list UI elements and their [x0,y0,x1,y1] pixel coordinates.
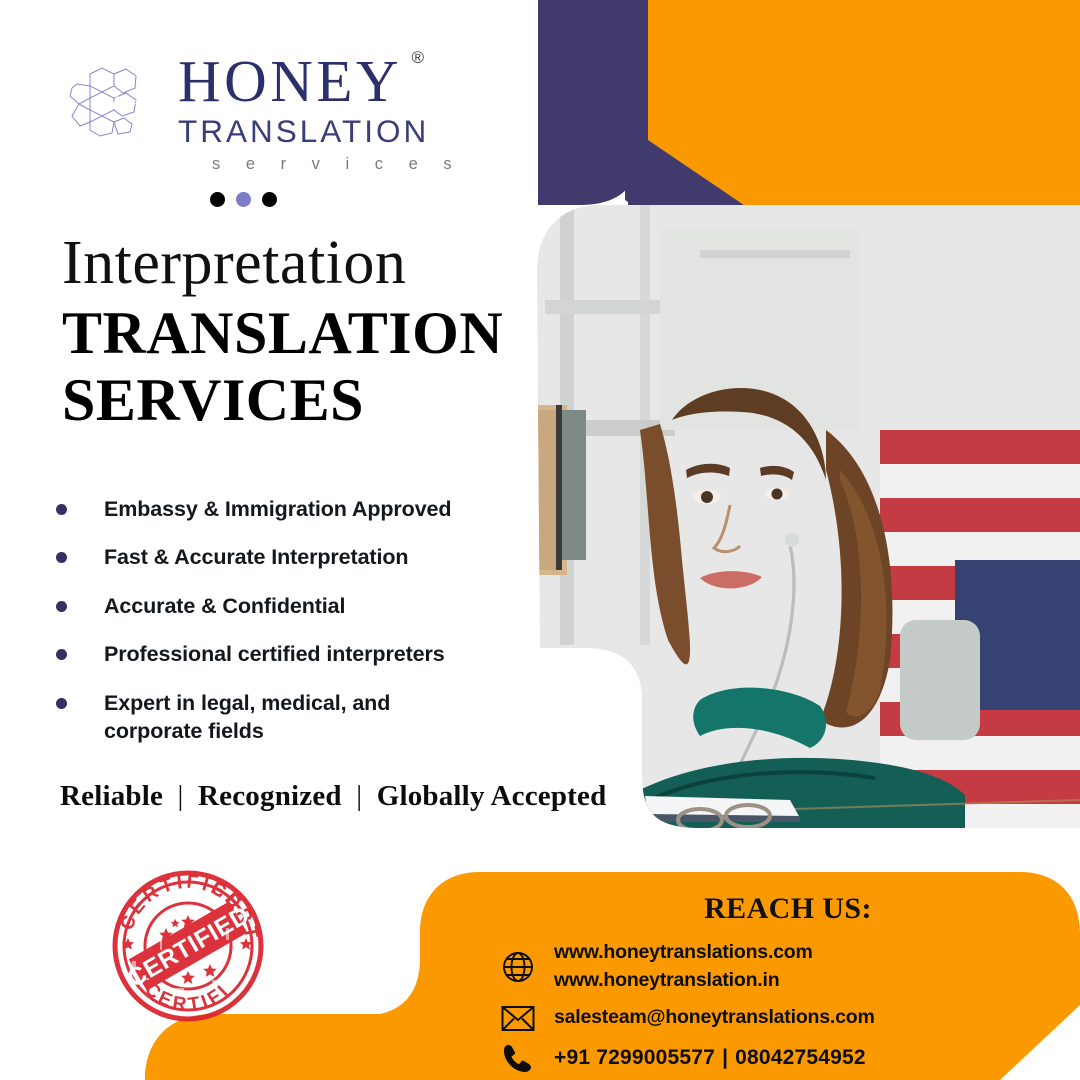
envelope-icon [498,1005,538,1032]
orange-decor-edge [648,0,700,140]
phone-numbers[interactable]: +91 7299005577|08042754952 [554,1043,866,1073]
headline-script: Interpretation [62,232,503,294]
tagline-part-2: Recognized [198,780,342,812]
phone-2[interactable]: 08042754952 [735,1046,866,1069]
svg-text:ग: ग [79,112,86,125]
globe-icon [498,950,538,984]
svg-text:ત: ત [76,90,83,101]
phone-1[interactable]: +91 7299005577 [554,1046,715,1069]
feature-text: Expert in legal, medical, and corporate … [104,689,454,746]
list-item: Professional certified interpreters [56,640,526,668]
tagline: Reliable | Recognized | Globally Accepte… [60,780,606,813]
email-address[interactable]: salesteam@honeytranslations.com [554,1004,875,1032]
feature-text: Fast & Accurate Interpretation [104,543,408,571]
tagline-part-3: Globally Accepted [377,780,607,812]
feature-text: Embassy & Immigration Approved [104,495,451,523]
contact-row-email[interactable]: salesteam@honeytranslations.com [498,1004,1080,1032]
headline-bold-2: SERVICES [62,367,503,434]
list-item: Expert in legal, medical, and corporate … [56,689,526,746]
globe-languages-icon: 0%#3b3f8f 60%#2a2d6e 100%#1b1d4e 0%#f0f0… [52,48,164,160]
list-item: Fast & Accurate Interpretation [56,543,526,571]
tagline-part-1: Reliable [60,780,163,812]
purple-decor-band [538,0,640,205]
purple-decor-diagonal [628,132,1080,540]
purple-decor-diagonal-2 [628,105,1080,440]
bullet-dot-icon [56,552,67,563]
orange-decor-fill [648,0,1080,260]
phone-separator: | [715,1046,735,1069]
website-links[interactable]: www.honeytranslations.com www.honeytrans… [554,939,813,994]
contact-row-website[interactable]: www.honeytranslations.com www.honeytrans… [498,939,1080,994]
page-title: Interpretation TRANSLATION SERVICES [62,232,503,434]
svg-text:ক: ক [96,72,105,85]
dot-1 [210,192,225,207]
bullet-dot-icon [56,504,67,515]
website-1[interactable]: www.honeytranslations.com [554,941,813,963]
registered-mark-icon: ® [411,50,424,66]
orange-decor-shape [648,0,1080,440]
tagline-separator: | [171,780,191,812]
certified-stamp-icon: CERTIFIED CERTIFIED CERTI [108,866,268,1026]
logo-wordmark-secondary: TRANSLATION [178,113,462,150]
contact-card: REACH US: www.honeytranslations.com [420,872,1080,1080]
bullet-dot-icon [56,698,67,709]
orange-decor-top [648,0,1080,69]
tagline-separator: | [349,780,369,812]
svg-text:વ: વ [122,119,128,130]
poster-canvas: 0%#e9eaea 0%#6b4328 45%#8a5a33 100%#5c39… [0,0,1080,1080]
phone-icon [498,1042,538,1074]
svg-text:।: । [136,81,139,91]
bullet-dot-icon [56,601,67,612]
orange-decor-body [648,0,1080,446]
feature-text: Accurate & Confidential [104,592,345,620]
headline-bold-1: TRANSLATION [62,300,503,367]
contact-title: REACH US: [496,892,1080,926]
list-item: Accurate & Confidential [56,592,526,620]
logo-wordmark-primary: HONEY® [178,54,402,108]
svg-text:អ: អ [120,71,127,84]
list-item: Embassy & Immigration Approved [56,495,526,523]
interpreter-photo [537,200,1080,840]
dot-3 [262,192,277,207]
brand-logo[interactable]: 0%#3b3f8f 60%#2a2d6e 100%#1b1d4e 0%#f0f0… [52,48,462,174]
feature-list: Embassy & Immigration Approved Fast & Ac… [56,495,526,745]
dot-2 [236,192,251,207]
logo-wordmark-tertiary: s e r v i c e s [178,155,462,174]
decorative-dots [210,192,277,207]
bullet-dot-icon [56,649,67,660]
contact-row-phone[interactable]: +91 7299005577|08042754952 [498,1042,1080,1074]
feature-text: Professional certified interpreters [104,640,445,668]
purple-decor-shape [538,0,1080,530]
website-2[interactable]: www.honeytranslation.in [554,969,779,991]
svg-text:અ: અ [95,96,109,111]
